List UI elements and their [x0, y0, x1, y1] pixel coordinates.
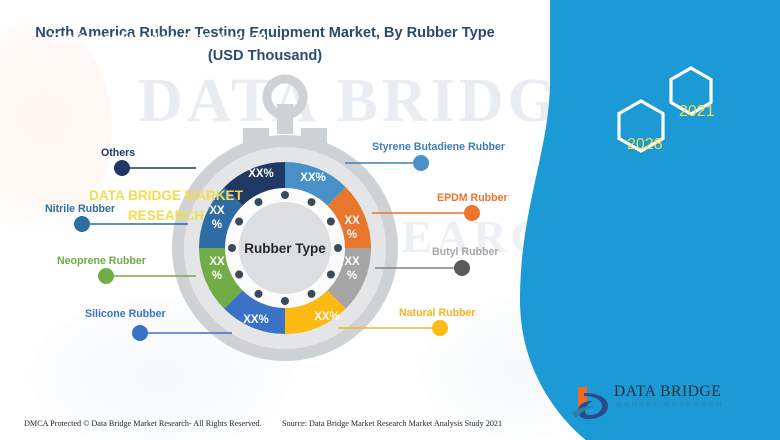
dot-others[interactable] — [114, 160, 130, 176]
panel-brand-line2: RESEARCH — [128, 208, 204, 223]
label-styrene-butadiene-rubber[interactable]: Styrene Butadiene Rubber — [372, 141, 505, 153]
panel-title-line1: North America Rubber Testing — [57, 10, 261, 26]
value-neoprene-rubber-l2: % — [212, 270, 222, 282]
right-panel — [490, 0, 780, 440]
value-epdm-rubber-l2: % — [347, 229, 357, 241]
dot-styrene-butadiene-rubber[interactable] — [413, 155, 429, 171]
footer-dmca: DMCA Protected © Data Bridge Market Rese… — [24, 419, 262, 428]
label-nitrile-rubber[interactable]: Nitrile Rubber — [45, 203, 115, 215]
dot-epdm-rubber[interactable] — [464, 205, 480, 221]
value-butyl-rubber-l2: % — [347, 270, 357, 282]
dot-neoprene-rubber[interactable] — [98, 268, 114, 284]
label-epdm-rubber[interactable]: EPDM Rubber — [437, 192, 508, 204]
panel-title-line2: Equipment Market, 2021 to 2028 — [51, 31, 266, 47]
value-others: XX% — [248, 168, 274, 180]
label-silicone-rubber[interactable]: Silicone Rubber — [85, 308, 166, 320]
data-bridge-logo-mark — [570, 385, 614, 423]
chart-title-line2: (USD Thousand) — [208, 48, 322, 64]
panel-brand-line1: DATA BRIDGE MARKET — [89, 188, 243, 203]
hex-2021-value: 2021 — [679, 103, 715, 121]
dot-natural-rubber[interactable] — [432, 320, 448, 336]
footer-source: Source: Data Bridge Market Research Mark… — [282, 419, 502, 428]
hex-2028-value: 2028 — [627, 136, 663, 154]
value-epdm-rubber-l1: XX — [344, 215, 360, 227]
value-butyl-rubber-l1: XX — [344, 256, 360, 268]
label-others[interactable]: Others — [101, 147, 135, 159]
label-natural-rubber[interactable]: Natural Rubber — [399, 307, 476, 319]
label-butyl-rubber[interactable]: Butyl Rubber — [432, 246, 499, 258]
logo-subtitle: MARKET RESEARCH — [616, 400, 724, 409]
value-silicone-rubber: XX% — [243, 314, 269, 326]
infographic-canvas: DATA BRIDGE RESEARCH North America Rubbe… — [0, 0, 780, 440]
label-neoprene-rubber[interactable]: Neoprene Rubber — [57, 255, 146, 267]
stopwatch-stem — [277, 104, 293, 134]
dot-butyl-rubber[interactable] — [454, 260, 470, 276]
value-natural-rubber: XX% — [314, 311, 340, 323]
logo-wordmark: DATA BRIDGE — [614, 383, 721, 401]
value-styrene-butadiene-rubber: XX% — [300, 172, 326, 184]
dot-silicone-rubber[interactable] — [132, 325, 148, 341]
center-label: Rubber Type — [244, 241, 326, 256]
panel-title: North America Rubber Testing Equipment M… — [40, 8, 278, 49]
value-neoprene-rubber-l1: XX — [209, 256, 225, 268]
